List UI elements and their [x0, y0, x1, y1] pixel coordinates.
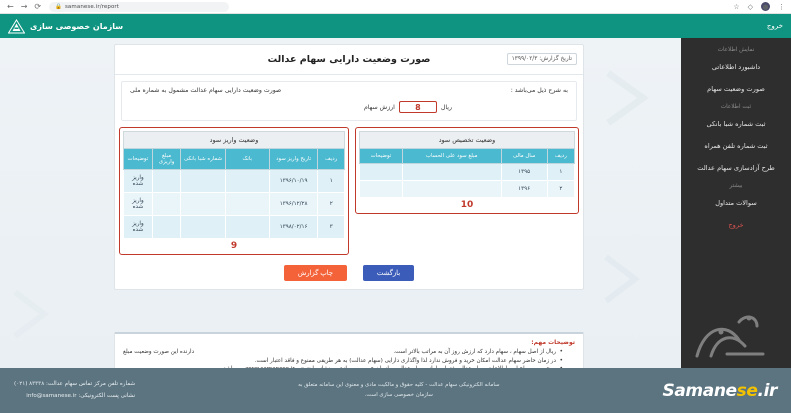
- notes-list: ریال از اصل سهام ، سهام دارد که ارزش روز…: [123, 348, 575, 368]
- footer-description: سامانه الکترونیکی سهام عدالت - کلیه حقوق…: [298, 381, 500, 400]
- deposit-table: وضعیت واریز سود ردیف تاریخ واریز سود بان…: [123, 131, 345, 239]
- lock-icon: 🔒: [55, 4, 62, 10]
- table-row: ۱ ۱۳۹۶/۱۰/۱۹ واریز شده: [124, 170, 345, 193]
- action-buttons: بازگشت چاپ گزارش: [115, 259, 583, 289]
- cell: ۱۳۹۵: [501, 164, 547, 181]
- deposit-col-bank: بانک: [225, 149, 269, 170]
- cell: [152, 216, 181, 239]
- allocation-table-annotation: 10: [359, 198, 575, 210]
- background-chevron-decor: [603, 68, 673, 128]
- back-button[interactable]: بازگشت: [363, 265, 414, 281]
- cell: ۱۳۹۸/۰۲/۱۶: [269, 216, 318, 239]
- deposit-table-caption: وضعیت واریز سود: [123, 131, 345, 148]
- report-date-value: ۱۳۹۹/۰۲/۳: [512, 56, 538, 62]
- allocation-col-row: ردیف: [547, 149, 574, 164]
- footer-description-line-1: سامانه الکترونیکی سهام عدالت - کلیه حقوق…: [298, 381, 500, 391]
- cell: [181, 193, 225, 216]
- report-card: تاریخ گزارش: ۱۳۹۹/۰۲/۳ صورت وضعیت دارایی…: [114, 44, 584, 290]
- report-intro: به شرح ذیل می‌باشد : صورت وضعیت دارایی س…: [121, 81, 577, 121]
- cell: واریز شده: [124, 170, 153, 193]
- allocation-table-caption: وضعیت تخصیص سود: [359, 131, 575, 148]
- allocation-col-fiscal-year: سال مالی: [501, 149, 547, 164]
- report-date-badge: تاریخ گزارش: ۱۳۹۹/۰۲/۳: [507, 53, 577, 65]
- cell: [359, 164, 402, 181]
- footer-logo: Samanese.ir: [663, 381, 777, 401]
- cell: واریز شده: [124, 216, 153, 239]
- cell: [181, 170, 225, 193]
- cell: [402, 181, 501, 198]
- table-row: ۱ ۱۳۹۵: [359, 164, 574, 181]
- sidebar-group-title-display: نمایش اطلاعات: [681, 43, 791, 56]
- sidebar-item-release-plan[interactable]: طرح آزادسازی سهام عدالت: [681, 157, 791, 179]
- sidebar-item-share-status[interactable]: صورت وضعیت سهام: [681, 78, 791, 100]
- report-card-header: تاریخ گزارش: ۱۳۹۹/۰۲/۳ صورت وضعیت دارایی…: [115, 45, 583, 75]
- page-title: صورت وضعیت دارایی سهام عدالت: [268, 54, 431, 65]
- sidebar-item-faq[interactable]: سوالات متداول: [681, 192, 791, 214]
- deposit-table-container: وضعیت واریز سود ردیف تاریخ واریز سود بان…: [119, 127, 349, 255]
- cell: ۲: [318, 193, 345, 216]
- browser-actions: ☆ ◇ ● ⋮: [733, 2, 791, 11]
- footer-logo-tld: .ir: [758, 381, 777, 401]
- cell: ۲: [547, 181, 574, 198]
- address-bar[interactable]: 🔒 samanese.ir/report: [49, 2, 229, 12]
- allocation-col-profit-amount: مبلغ سود علی الحساب: [402, 149, 501, 164]
- deposit-col-row: ردیف: [318, 149, 345, 170]
- extension-icon[interactable]: ◇: [748, 3, 753, 11]
- allocation-col-notes: توضیحات: [359, 149, 402, 164]
- brand[interactable]: سازمان خصوصی سازی: [8, 19, 123, 34]
- sidebar-item-logout[interactable]: خروج: [681, 214, 791, 236]
- footer-logo-accent: se: [737, 381, 758, 401]
- sidebar-group-title-more: بیشتر: [681, 179, 791, 192]
- header-exit-link[interactable]: خروج: [767, 22, 783, 30]
- cell: [152, 193, 181, 216]
- important-notes: توضیحات مهم: ریال از اصل سهام ، سهام دار…: [114, 332, 584, 368]
- table-row: ۳ ۱۳۹۸/۰۲/۱۶ واریز شده: [124, 216, 345, 239]
- footer-contact: شماره تلفن مرکز تماس سهام عدالت: ۸۳۳۳۸ (…: [14, 379, 135, 401]
- forward-arrow-icon[interactable]: →: [21, 3, 28, 11]
- note-text-right: دارنده این صورت وضعیت مبلغ: [123, 348, 194, 357]
- sidebar-item-register-mobile[interactable]: ثبت شماره تلفن همراه: [681, 135, 791, 157]
- cell: [402, 164, 501, 181]
- kebab-menu-icon[interactable]: ⋮: [778, 3, 785, 11]
- cell: [152, 170, 181, 193]
- cell: [225, 170, 269, 193]
- deposit-col-amount: مبلغ واریزی: [152, 149, 181, 170]
- sidebar-item-register-iban[interactable]: ثبت شماره شبا بانکی: [681, 113, 791, 135]
- sidebar-item-dashboard[interactable]: داشبورد اطلاعاتی: [681, 56, 791, 78]
- cell: [359, 181, 402, 198]
- watermark-logo: [687, 306, 773, 362]
- footer-logo-main: Samane: [663, 381, 737, 401]
- note-item: ریال از اصل سهام ، سهام دارد که ارزش روز…: [123, 348, 563, 357]
- footer-email[interactable]: نشانی پست الکترونیکی: info@samanese.ir: [14, 391, 135, 402]
- intro-text-left: به شرح ذیل می‌باشد :: [511, 87, 568, 94]
- table-header-row: ردیف سال مالی مبلغ سود علی الحساب توضیحا…: [359, 149, 574, 164]
- cell: واریز شده: [124, 193, 153, 216]
- organization-logo-icon: [8, 19, 25, 34]
- notes-title: توضیحات مهم:: [123, 339, 575, 346]
- intro-line-1: به شرح ذیل می‌باشد : صورت وضعیت دارایی س…: [130, 87, 568, 94]
- site-header: خروج سازمان خصوصی سازی: [0, 14, 791, 38]
- print-report-button[interactable]: چاپ گزارش: [284, 265, 347, 281]
- cell: ۱۳۹۶/۱۰/۱۹: [269, 170, 318, 193]
- table-header-row: ردیف تاریخ واریز سود بانک شماره شبا بانک…: [124, 149, 345, 170]
- app-page: ← → ⟳ 🔒 samanese.ir/report ☆ ◇ ● ⋮ خروج …: [0, 0, 791, 413]
- deposit-col-iban: شماره شبا بانکی: [181, 149, 225, 170]
- allocation-table-container: وضعیت تخصیص سود ردیف سال مالی مبلغ سود ع…: [355, 127, 579, 214]
- currency-label: ریال: [441, 104, 452, 111]
- sidebar: نمایش اطلاعات داشبورد اطلاعاتی صورت وضعی…: [681, 38, 791, 368]
- deposit-table-annotation: 9: [123, 239, 345, 251]
- table-row: ۲ ۱۳۹۶/۱۲/۲۸ واریز شده: [124, 193, 345, 216]
- back-arrow-icon[interactable]: ←: [7, 3, 14, 11]
- share-value-label: ارزش سهام: [364, 104, 395, 111]
- browser-toolbar: ← → ⟳ 🔒 samanese.ir/report ☆ ◇ ● ⋮: [0, 0, 791, 14]
- browser-nav-icons: ← → ⟳: [0, 3, 41, 11]
- report-date-label: تاریخ گزارش:: [539, 56, 572, 62]
- deposit-col-notes: توضیحات: [124, 149, 153, 170]
- cell: ۱: [318, 170, 345, 193]
- main-content: تاریخ گزارش: ۱۳۹۹/۰۲/۳ صورت وضعیت دارایی…: [0, 38, 681, 368]
- background-chevron-decor-2: [601, 253, 661, 305]
- intro-text-right: صورت وضعیت دارایی سهام عدالت مشمول به شم…: [130, 87, 281, 94]
- cell: [181, 216, 225, 239]
- footer-phone: شماره تلفن مرکز تماس سهام عدالت: ۸۳۳۳۸ (…: [14, 379, 135, 390]
- url-text: samanese.ir/report: [65, 4, 119, 10]
- brand-name: سازمان خصوصی سازی: [30, 22, 123, 31]
- footer-description-line-2: سازمان خصوصی سازی است.: [298, 391, 500, 401]
- site-footer: Samanese.ir سامانه الکترونیکی سهام عدالت…: [0, 368, 791, 413]
- deposit-col-date: تاریخ واریز سود: [269, 149, 318, 170]
- note-split: ریال از اصل سهام ، سهام دارد که ارزش روز…: [123, 348, 556, 357]
- note-text-left: ریال از اصل سهام ، سهام دارد که ارزش روز…: [393, 348, 556, 357]
- note-item: در زمان حاضر سهام عدالت امکان خرید و فرو…: [123, 357, 563, 366]
- cell: ۳: [318, 216, 345, 239]
- cell: ۱۳۹۶: [501, 181, 547, 198]
- cell: [225, 193, 269, 216]
- background-chevron-decor-3: [10, 288, 70, 340]
- allocation-table: وضعیت تخصیص سود ردیف سال مالی مبلغ سود ع…: [359, 131, 575, 198]
- star-icon[interactable]: ☆: [733, 3, 739, 11]
- cell: ۱: [547, 164, 574, 181]
- cell: [225, 216, 269, 239]
- cell: ۱۳۹۶/۱۲/۲۸: [269, 193, 318, 216]
- tables-row: وضعیت تخصیص سود ردیف سال مالی مبلغ سود ع…: [115, 127, 583, 259]
- sidebar-group-title-register: ثبت اطلاعات: [681, 100, 791, 113]
- profile-avatar-icon[interactable]: ●: [761, 2, 770, 11]
- reload-icon[interactable]: ⟳: [34, 3, 41, 11]
- table-row: ۲ ۱۳۹۶: [359, 181, 574, 198]
- intro-line-2: ریال 8 ارزش سهام: [130, 101, 568, 113]
- share-value-annotation: 8: [399, 101, 437, 113]
